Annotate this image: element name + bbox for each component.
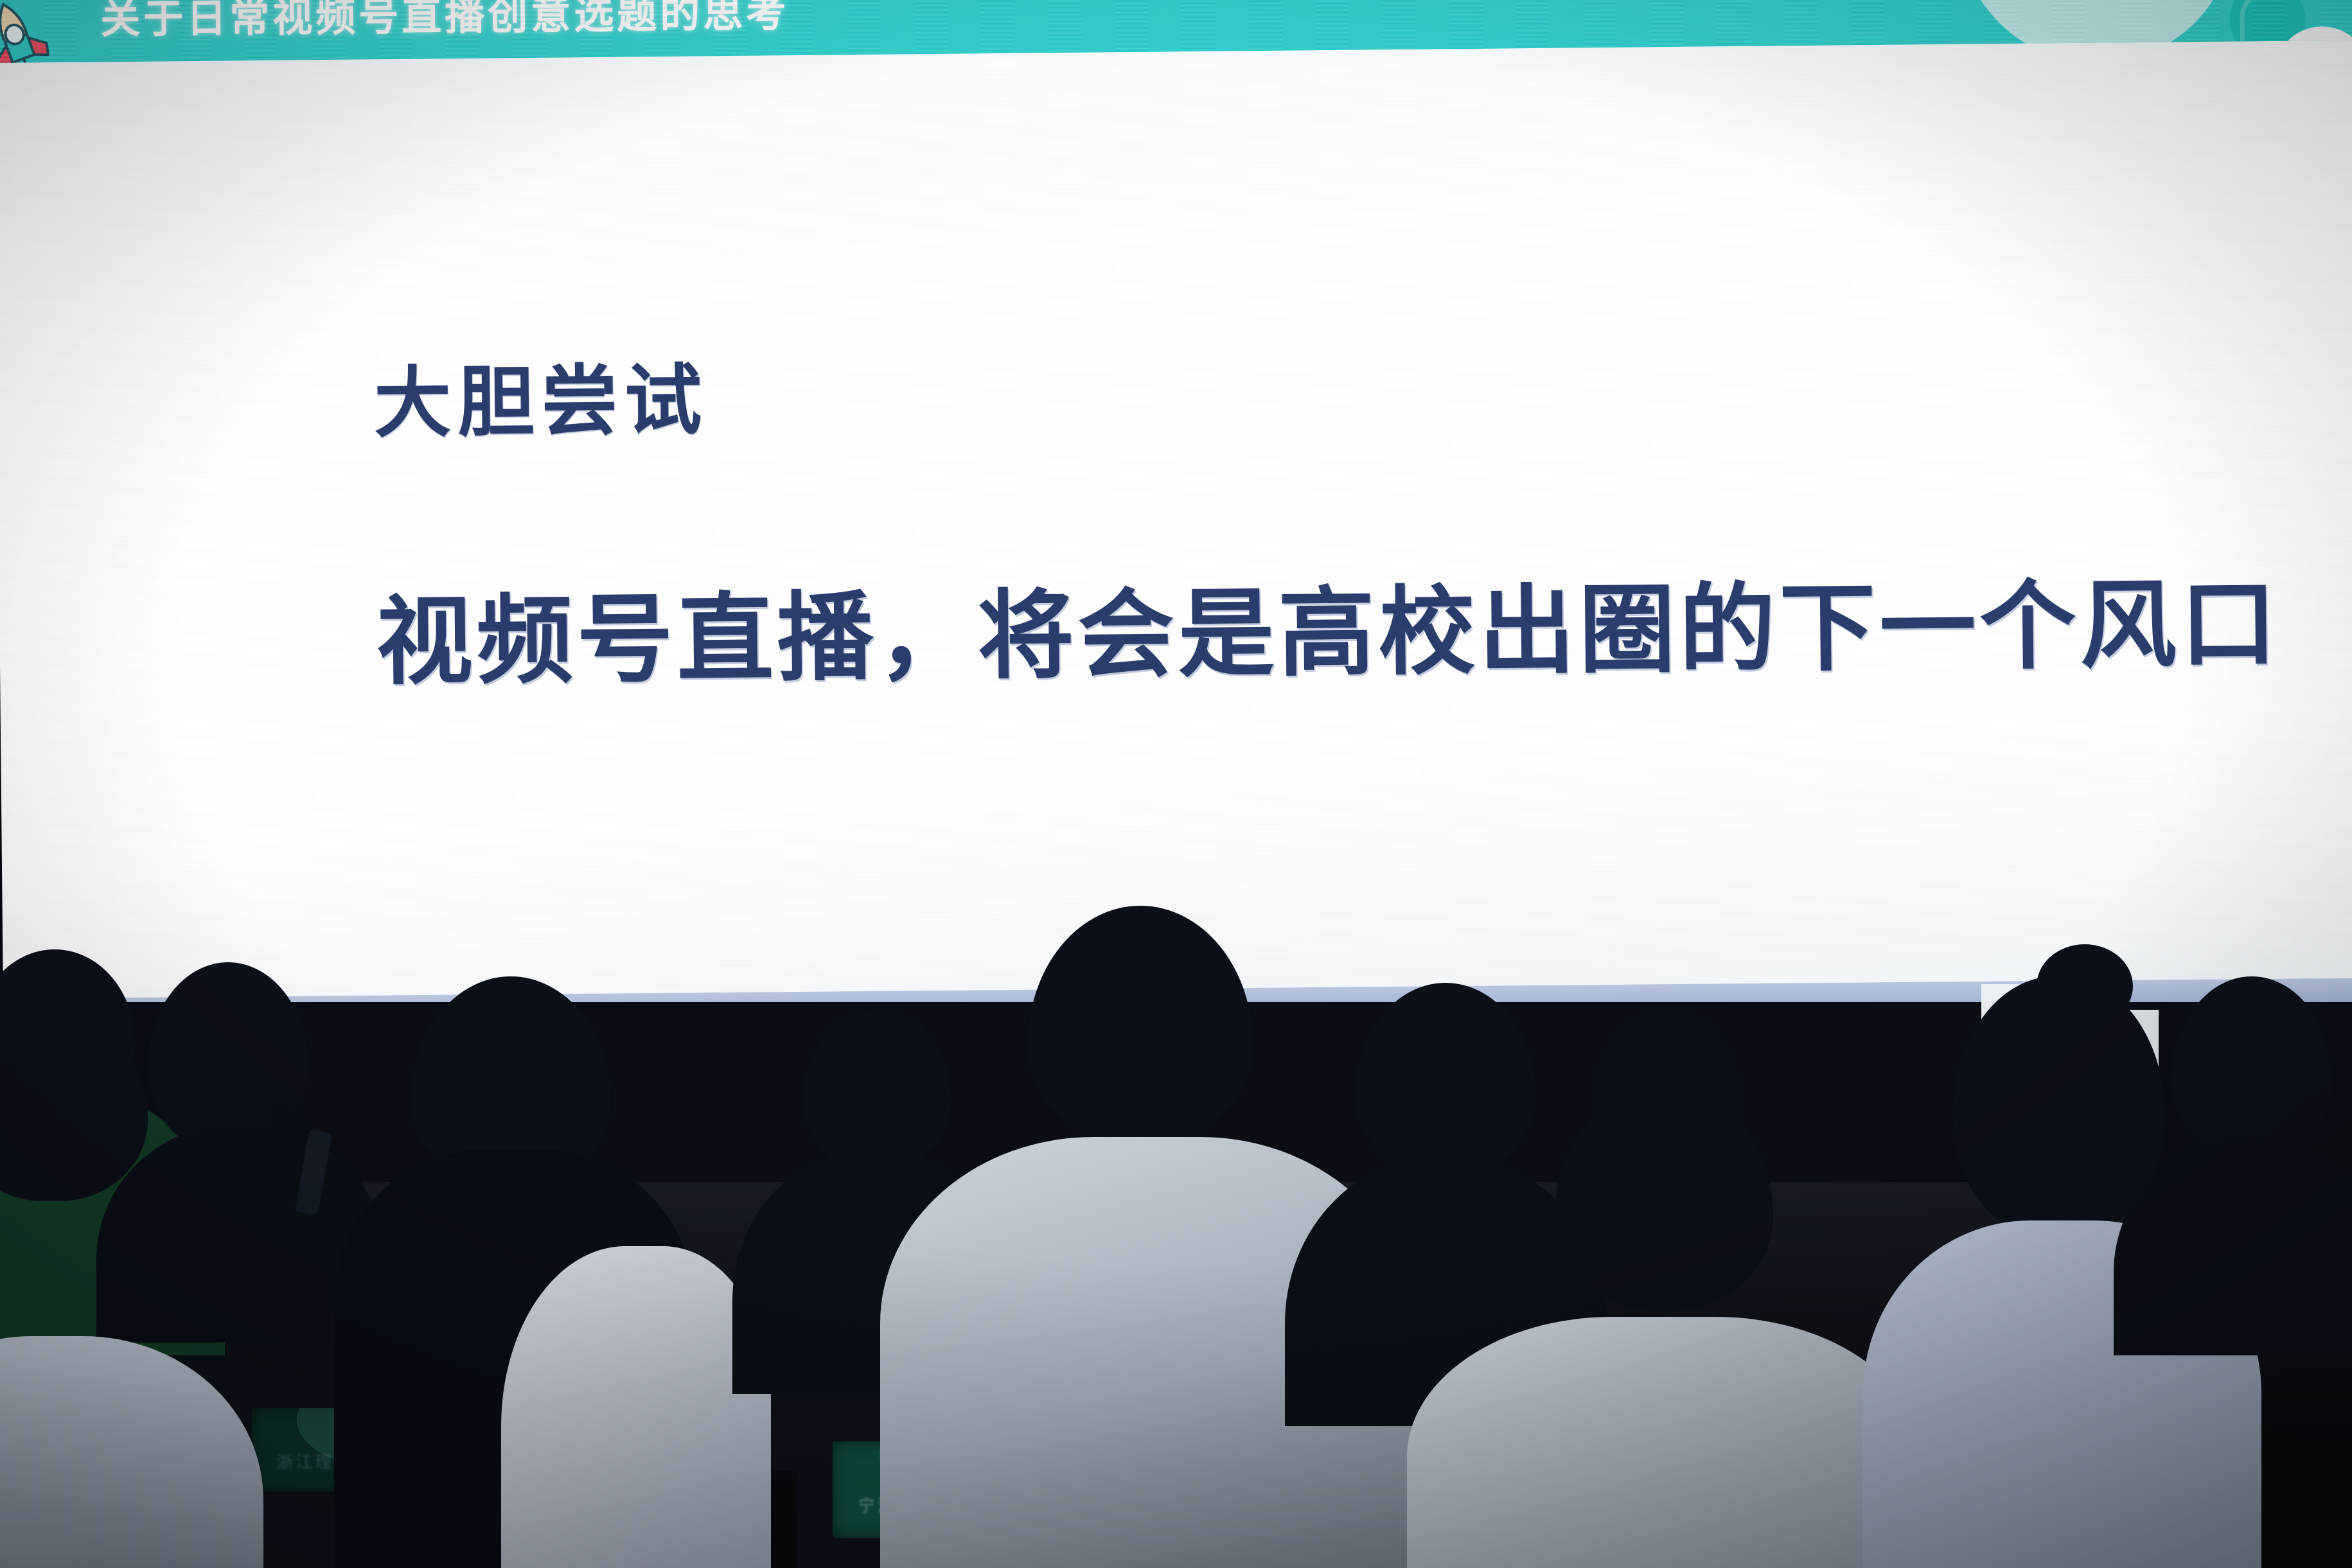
slide-content: 大胆尝试 视频号直播，将会是高校出圈的下一个风口 — [0, 49, 2352, 1061]
slide-title: 关于日常视频号直播创意选题的思考 — [100, 0, 790, 48]
projection-screen: 关于日常视频号直播创意选题的思考 大胆尝试 视频号直播，将会是高校出圈的下一个风… — [0, 0, 2352, 1062]
conference-photo: 关于日常视频号直播创意选题的思考 大胆尝试 视频号直播，将会是高校出圈的下一个风… — [0, 0, 2352, 1568]
slide-headline-text: 视频号直播，将会是高校出圈的下一个风口 — [376, 576, 2281, 690]
slide-kicker-text: 大胆尝试 — [374, 362, 709, 442]
person-body — [1407, 1317, 1921, 1568]
person-hair-bun — [2037, 944, 2133, 1028]
rocket-icon — [0, 0, 49, 63]
person-body — [501, 1246, 771, 1568]
